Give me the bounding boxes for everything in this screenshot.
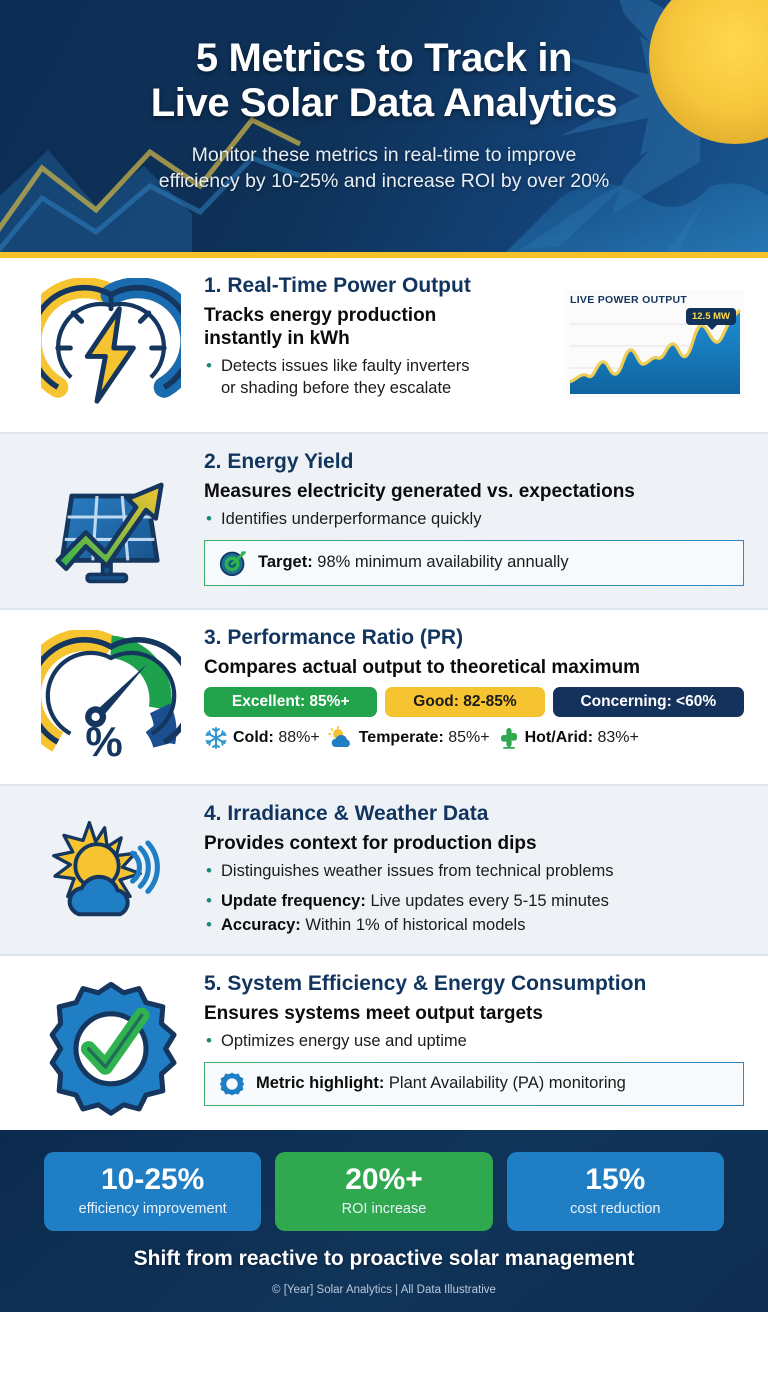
section-title: 4. Irradiance & Weather Data xyxy=(204,802,744,827)
page-title: 5 Metrics to Track in Live Solar Data An… xyxy=(30,36,738,126)
bullet-item: Detects issues like faulty inverters or … xyxy=(204,356,552,400)
content-column: 3. Performance Ratio (PR) Compares actua… xyxy=(204,624,744,750)
header-banner: 5 Metrics to Track in Live Solar Data An… xyxy=(0,0,768,258)
header-accent-rule xyxy=(0,252,768,258)
icon-column: % xyxy=(18,624,204,770)
content-column: 4. Irradiance & Weather Data Provides co… xyxy=(204,800,744,940)
section-system-efficiency: 5. System Efficiency & Energy Consumptio… xyxy=(0,956,768,1130)
percent-gauge-needle-icon: % xyxy=(41,630,181,770)
sun-cloud-signal-icon xyxy=(41,806,181,936)
cactus-icon xyxy=(498,726,520,750)
footer-tagline: Shift from reactive to proactive solar m… xyxy=(44,1247,724,1271)
climate-hotarid-value: 83%+ xyxy=(597,729,638,746)
section-subtitle: Compares actual output to theoretical ma… xyxy=(204,656,744,679)
stat-group: 10-25% efficiency improvement 20%+ ROI i… xyxy=(44,1152,724,1231)
gear-icon xyxy=(219,1071,245,1097)
metric-highlight-callout: Metric highlight: Plant Availability (PA… xyxy=(204,1062,744,1106)
bullet-item: Distinguishes weather issues from techni… xyxy=(204,861,744,883)
chart-tooltip: 12.5 MW xyxy=(686,308,736,325)
footer-copyright: © [Year] Solar Analytics | All Data Illu… xyxy=(44,1284,724,1296)
section-subtitle-line2: instantly in kWh xyxy=(204,327,552,350)
section-title: 1. Real-Time Power Output xyxy=(204,274,552,299)
stat-label: cost reduction xyxy=(513,1201,718,1217)
page-subtitle: Monitor these metrics in real-time to im… xyxy=(30,142,738,195)
target-icon xyxy=(219,549,247,577)
chart-plot xyxy=(564,290,744,398)
bullet-text: Within 1% of historical models xyxy=(305,916,525,934)
stat-value: 10-25% xyxy=(50,1165,255,1195)
stat-label: ROI increase xyxy=(281,1201,486,1217)
bullet-item: Optimizes energy use and uptime xyxy=(204,1031,744,1053)
bullet-bold-label: Update frequency: xyxy=(221,892,366,910)
svg-text:%: % xyxy=(85,718,122,765)
section-title: 3. Performance Ratio (PR) xyxy=(204,626,744,651)
icon-column xyxy=(18,800,204,936)
climate-temperate: Temperate: 85%+ xyxy=(328,726,490,750)
icon-column xyxy=(18,448,204,594)
section-title: 5. System Efficiency & Energy Consumptio… xyxy=(204,972,744,997)
bullet-item: Update frequency: Live updates every 5-1… xyxy=(204,891,744,913)
bullet-bold-label: Accuracy: xyxy=(221,916,301,934)
badge-excellent: Excellent: 85%+ xyxy=(204,687,377,717)
section-performance-ratio: % 3. Performance Ratio (PR) Compares act… xyxy=(0,610,768,784)
section-subtitle-line1: Tracks energy production xyxy=(204,304,552,327)
bullet-line1: Detects issues like faulty inverters xyxy=(221,357,470,375)
section-real-time-power-output: 1. Real-Time Power Output Tracks energy … xyxy=(0,258,768,432)
bullet-item: Accuracy: Within 1% of historical models xyxy=(204,915,744,937)
bullet-item: Identifies underperformance quickly xyxy=(204,509,744,531)
power-gauge-bolt-icon xyxy=(41,278,181,418)
climate-cold-value: 88%+ xyxy=(278,729,319,746)
page-title-line1: 5 Metrics to Track in xyxy=(30,36,738,81)
climate-hotarid-label: Hot/Arid: xyxy=(525,729,593,746)
section-title: 2. Energy Yield xyxy=(204,450,744,475)
chart-title: LIVE POWER OUTPUT xyxy=(570,294,687,306)
badge-concerning: Concerning: <60% xyxy=(553,687,744,717)
climate-cold-label: Cold: xyxy=(233,729,274,746)
content-column: 1. Real-Time Power Output Tracks energy … xyxy=(204,272,552,403)
climate-benchmarks: Cold: 88%+ Temperate: 85%+ xyxy=(204,726,744,750)
badge-good: Good: 82-85% xyxy=(385,687,544,717)
page-subtitle-line2: efficiency by 10-25% and increase ROI by… xyxy=(30,168,738,194)
stat-cost: 15% cost reduction xyxy=(507,1152,724,1231)
section-energy-yield: 2. Energy Yield Measures electricity gen… xyxy=(0,434,768,608)
solar-panel-growth-arrow-icon xyxy=(41,454,181,594)
climate-temperate-value: 85%+ xyxy=(448,729,489,746)
live-power-output-chart: LIVE POWER OUTPUT 12.5 MW xyxy=(564,290,744,398)
climate-hot-arid: Hot/Arid: 83%+ xyxy=(498,726,639,750)
callout-label: Metric highlight: xyxy=(256,1074,384,1092)
bullet-text: Live updates every 5-15 minutes xyxy=(370,892,608,910)
page-subtitle-line1: Monitor these metrics in real-time to im… xyxy=(30,142,738,168)
stat-value: 15% xyxy=(513,1165,718,1195)
pr-badge-group: Excellent: 85%+ Good: 82-85% Concerning:… xyxy=(204,687,744,717)
climate-cold: Cold: 88%+ xyxy=(204,726,320,750)
callout-value: 98% minimum availability annually xyxy=(317,553,568,571)
target-callout: Target: 98% minimum availability annuall… xyxy=(204,540,744,586)
section-subtitle: Measures electricity generated vs. expec… xyxy=(204,480,744,503)
callout-label: Target: xyxy=(258,553,313,571)
callout-text: Metric highlight: Plant Availability (PA… xyxy=(256,1074,626,1094)
stat-label: efficiency improvement xyxy=(50,1201,255,1217)
infographic-page: 5 Metrics to Track in Live Solar Data An… xyxy=(0,0,768,1376)
section-subtitle: Ensures systems meet output targets xyxy=(204,1002,744,1025)
footer-banner: 10-25% efficiency improvement 20%+ ROI i… xyxy=(0,1130,768,1312)
icon-column xyxy=(18,272,204,418)
stat-roi: 20%+ ROI increase xyxy=(275,1152,492,1231)
callout-value: Plant Availability (PA) monitoring xyxy=(389,1074,626,1092)
bullet-line2: or shading before they escalate xyxy=(221,379,451,397)
section-irradiance-weather-data: 4. Irradiance & Weather Data Provides co… xyxy=(0,786,768,954)
page-title-line2: Live Solar Data Analytics xyxy=(30,81,738,126)
gear-check-icon xyxy=(41,976,181,1116)
section-subtitle: Tracks energy production instantly in kW… xyxy=(204,304,552,350)
sun-cloud-icon xyxy=(328,726,354,750)
snowflake-icon xyxy=(204,726,228,750)
stat-value: 20%+ xyxy=(281,1165,486,1195)
icon-column xyxy=(18,970,204,1116)
content-column: 2. Energy Yield Measures electricity gen… xyxy=(204,448,744,586)
content-column: 5. System Efficiency & Energy Consumptio… xyxy=(204,970,744,1106)
section-subtitle: Provides context for production dips xyxy=(204,832,744,855)
climate-temperate-label: Temperate: xyxy=(359,729,444,746)
callout-text: Target: 98% minimum availability annuall… xyxy=(258,553,569,573)
stat-efficiency: 10-25% efficiency improvement xyxy=(44,1152,261,1231)
